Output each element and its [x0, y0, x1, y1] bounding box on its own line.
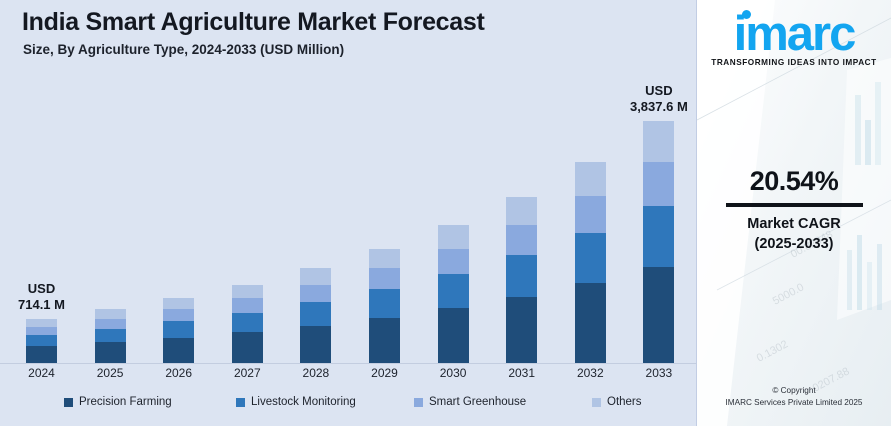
x-axis-labels: 2024202520262027202820292030203120322033 — [0, 366, 697, 388]
cagr-label: Market CAGR — [697, 214, 891, 234]
legend-label: Precision Farming — [79, 396, 172, 408]
imarc-logo: imarc TRANSFORMING IDEAS INTO IMPACT — [697, 8, 891, 67]
bar-segment-2032-smart-greenhouse — [575, 196, 606, 232]
bar-segment-2027-smart-greenhouse — [232, 298, 263, 312]
x-axis-tick-2033: 2033 — [636, 366, 682, 380]
bar-segment-2029-smart-greenhouse — [369, 268, 400, 289]
bar-segment-2033-others — [643, 121, 674, 162]
cagr-value: 20.54% — [697, 166, 891, 197]
bar-segment-2030-livestock-monitoring — [438, 274, 469, 309]
legend-item-precision-farming[interactable]: Precision Farming — [64, 396, 172, 408]
legend-item-livestock-monitoring[interactable]: Livestock Monitoring — [236, 396, 356, 408]
x-axis-tick-2032: 2032 — [567, 366, 613, 380]
bar-2029 — [369, 249, 400, 364]
cagr-period: (2025-2033) — [697, 234, 891, 254]
bar-segment-2028-smart-greenhouse — [300, 285, 331, 302]
bar-segment-2027-livestock-monitoring — [232, 313, 263, 333]
x-axis-tick-2026: 2026 — [156, 366, 202, 380]
x-axis-tick-2031: 2031 — [499, 366, 545, 380]
bar-segment-2032-livestock-monitoring — [575, 233, 606, 283]
bar-segment-2033-smart-greenhouse — [643, 162, 674, 206]
cagr-divider — [726, 203, 863, 207]
bar-segment-2027-precision-farming — [232, 332, 263, 364]
logo-text: imarc — [734, 7, 855, 61]
bar-2024 — [26, 319, 57, 364]
bar-segment-2031-precision-farming — [506, 297, 537, 364]
bar-2030 — [438, 225, 469, 364]
bar-segment-2028-precision-farming — [300, 326, 331, 364]
bar-segment-2029-precision-farming — [369, 318, 400, 364]
bar-segment-2024-smart-greenhouse — [26, 327, 57, 335]
legend-swatch-icon — [414, 398, 423, 407]
copyright-line-1: © Copyright — [697, 385, 891, 397]
legend-label: Livestock Monitoring — [251, 396, 356, 408]
legend-swatch-icon — [592, 398, 601, 407]
bar-2033 — [643, 121, 674, 364]
bar-segment-2028-others — [300, 268, 331, 284]
bar-segment-2030-others — [438, 225, 469, 249]
bar-2032 — [575, 162, 606, 364]
bar-segment-2033-precision-farming — [643, 267, 674, 364]
bar-segment-2028-livestock-monitoring — [300, 302, 331, 326]
legend-item-smart-greenhouse[interactable]: Smart Greenhouse — [414, 396, 526, 408]
bar-2028 — [300, 268, 331, 364]
bar-segment-2029-livestock-monitoring — [369, 289, 400, 318]
plot-area: USD 714.1 M USD 3,837.6 M — [0, 70, 697, 364]
bar-segment-2024-precision-farming — [26, 346, 57, 364]
page-title: India Smart Agriculture Market Forecast — [22, 8, 485, 37]
bar-segment-2031-livestock-monitoring — [506, 255, 537, 297]
bar-segment-2025-livestock-monitoring — [95, 329, 126, 343]
legend-label: Smart Greenhouse — [429, 396, 526, 408]
legend-swatch-icon — [236, 398, 245, 407]
x-axis-line — [0, 363, 697, 364]
bar-segment-2033-livestock-monitoring — [643, 206, 674, 267]
bar-segment-2025-precision-farming — [95, 342, 126, 364]
legend-label: Others — [607, 396, 642, 408]
bar-segment-2027-others — [232, 285, 263, 298]
logo-dot-icon — [742, 10, 751, 19]
logo-wordmark: imarc — [734, 8, 855, 60]
copyright-line-2: IMARC Services Private Limited 2025 — [697, 397, 891, 409]
callout-first-currency: USD — [0, 281, 97, 297]
bar-segment-2026-others — [163, 298, 194, 309]
chart-panel: India Smart Agriculture Market Forecast … — [0, 0, 697, 426]
callout-first-value: 714.1 M — [0, 297, 97, 313]
bar-segment-2032-others — [575, 162, 606, 196]
bar-segment-2032-precision-farming — [575, 283, 606, 364]
bar-2031 — [506, 197, 537, 365]
x-axis-tick-2024: 2024 — [19, 366, 65, 380]
chart-infographic: India Smart Agriculture Market Forecast … — [0, 0, 891, 426]
x-axis-tick-2029: 2029 — [362, 366, 408, 380]
bar-2026 — [163, 298, 194, 364]
bar-2025 — [95, 309, 126, 364]
x-axis-tick-2025: 2025 — [87, 366, 133, 380]
copyright-notice: © Copyright IMARC Services Private Limit… — [697, 385, 891, 408]
bar-segment-2026-livestock-monitoring — [163, 321, 194, 337]
x-axis-tick-2030: 2030 — [430, 366, 476, 380]
bar-segment-2025-others — [95, 309, 126, 318]
bar-segment-2026-precision-farming — [163, 338, 194, 364]
chart-legend: Precision FarmingLivestock MonitoringSma… — [0, 396, 697, 420]
page-subtitle: Size, By Agriculture Type, 2024-2033 (US… — [23, 42, 344, 57]
bar-segment-2031-others — [506, 197, 537, 226]
bar-segment-2031-smart-greenhouse — [506, 225, 537, 255]
bar-segment-2025-smart-greenhouse — [95, 319, 126, 329]
legend-item-others[interactable]: Others — [592, 396, 642, 408]
bar-segment-2030-smart-greenhouse — [438, 249, 469, 274]
x-axis-tick-2028: 2028 — [293, 366, 339, 380]
value-callout-first: USD 714.1 M — [0, 281, 97, 313]
brand-panel: 5000.0 0.1302 0207.88 00:82048 imarc TRA… — [697, 0, 891, 426]
bar-segment-2029-others — [369, 249, 400, 269]
bar-2027 — [232, 285, 263, 364]
bar-segment-2030-precision-farming — [438, 308, 469, 364]
bar-segment-2024-others — [26, 319, 57, 327]
bar-segment-2026-smart-greenhouse — [163, 309, 194, 321]
legend-swatch-icon — [64, 398, 73, 407]
bar-segment-2024-livestock-monitoring — [26, 335, 57, 346]
x-axis-tick-2027: 2027 — [224, 366, 270, 380]
cagr-block: 20.54% Market CAGR (2025-2033) — [697, 166, 891, 254]
